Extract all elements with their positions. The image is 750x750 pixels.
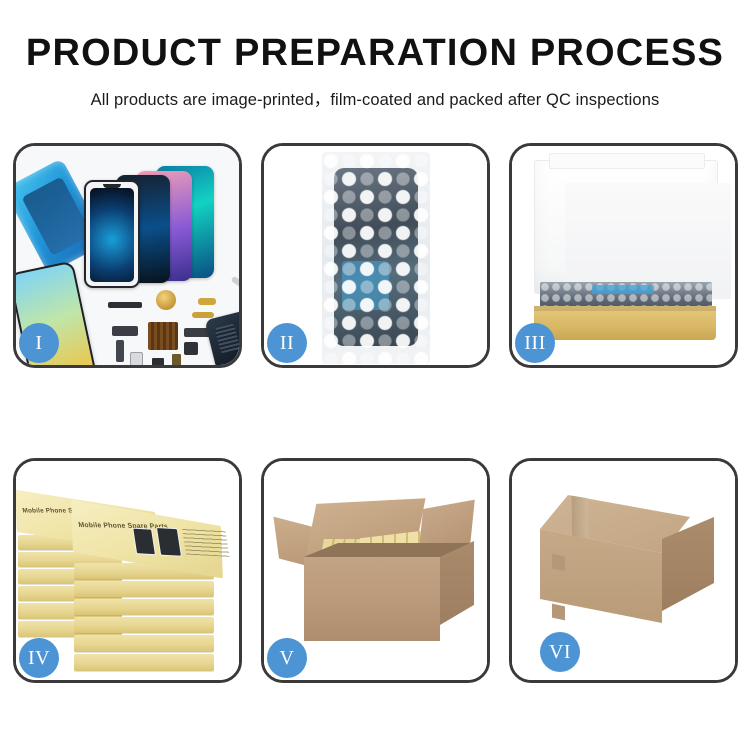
bubble-wrap-pack [322,152,430,364]
part-ic-chip-grid [148,322,178,350]
bubble-texture [322,152,430,364]
page-title: PRODUCT PREPARATION PROCESS [0,34,750,72]
mailer-kraft-base [534,306,716,340]
step-panel-1: I [13,143,242,368]
part-connector-b [192,312,214,318]
part-strip [116,340,124,362]
step-badge-3: III [515,323,555,363]
step-badge-2: II [267,323,307,363]
carton-tab-upper [552,554,565,572]
mailer-lid [534,160,718,294]
carton-front [304,557,440,641]
step-badge-1: I [19,323,59,363]
page-subtitle: All products are image-printed，film-coat… [0,86,750,110]
process-steps-grid: I II [13,143,737,683]
part-camera [152,358,164,365]
part-copper-coil [156,290,176,310]
step-badge-5: V [267,638,307,678]
step-panel-4: Mobile Phone Spare Parts Mobile Phone Sp… [13,458,242,683]
step-panel-5: V [261,458,490,683]
product-preparation-infographic: PRODUCT PREPARATION PROCESS All products… [0,0,750,750]
part-sim-tray [130,352,143,365]
header: PRODUCT PREPARATION PROCESS All products… [0,0,750,110]
step-panel-3: III [509,143,738,368]
box-label-main: Mobile Phone Spare Parts [78,522,169,531]
carton-tab-lower [552,604,565,621]
step-badge-4: IV [19,638,59,678]
part-speaker-mesh [108,302,142,308]
phone-front-glass [84,180,140,288]
part-flex-cable [112,326,138,336]
part-connector-a [198,298,216,305]
step-panel-2: II [261,143,490,368]
step-panel-6: VI [509,458,738,683]
step-badge-6: VI [540,632,580,672]
part-bracket [172,354,181,365]
part-module [184,342,198,355]
